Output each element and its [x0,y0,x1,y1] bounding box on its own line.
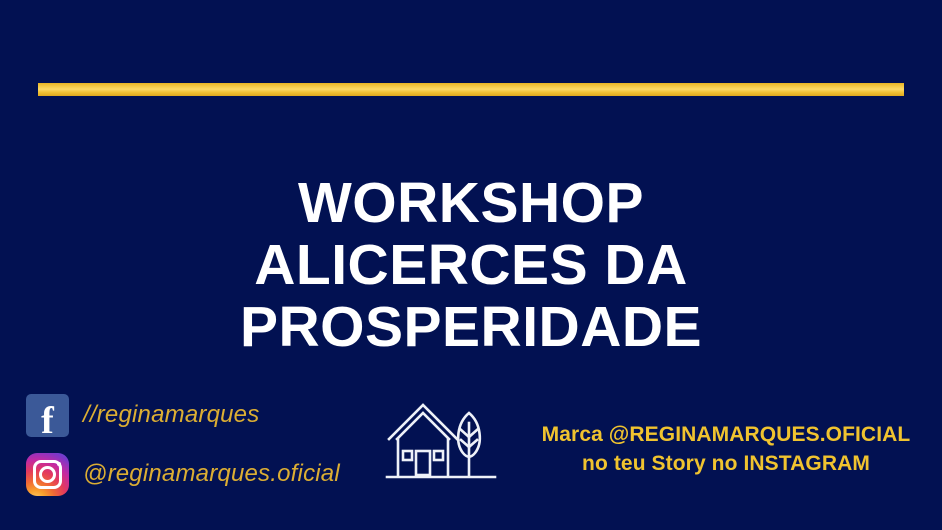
cta-line-1: Marca @REGINAMARQUES.OFICIAL [520,420,932,449]
slide-canvas: WORKSHOP ALICERCES DA PROSPERIDADE f //r… [0,0,942,530]
title-line-1: WORKSHOP [0,172,942,234]
facebook-glyph: f [26,402,69,440]
house-with-tree-icon [385,399,497,485]
social-links: f //reginamarques @reginamarques.oficial [26,392,366,510]
cta-line-2: no teu Story no INSTAGRAM [520,449,932,478]
instagram-lens-shape [39,466,56,483]
social-row-instagram[interactable]: @reginamarques.oficial [26,451,366,497]
call-to-action: Marca @REGINAMARQUES.OFICIAL no teu Stor… [520,420,932,478]
title-line-2: ALICERCES DA [0,234,942,296]
facebook-handle-label: //reginamarques [83,401,259,429]
social-row-facebook[interactable]: f //reginamarques [26,392,366,438]
instagram-icon[interactable] [26,453,69,496]
instagram-dot-shape [57,462,61,466]
facebook-icon[interactable]: f [26,394,69,437]
top-accent-bar [38,83,904,96]
title-line-3: PROSPERIDADE [0,296,942,358]
page-title: WORKSHOP ALICERCES DA PROSPERIDADE [0,172,942,358]
instagram-handle-label: @reginamarques.oficial [83,460,340,488]
